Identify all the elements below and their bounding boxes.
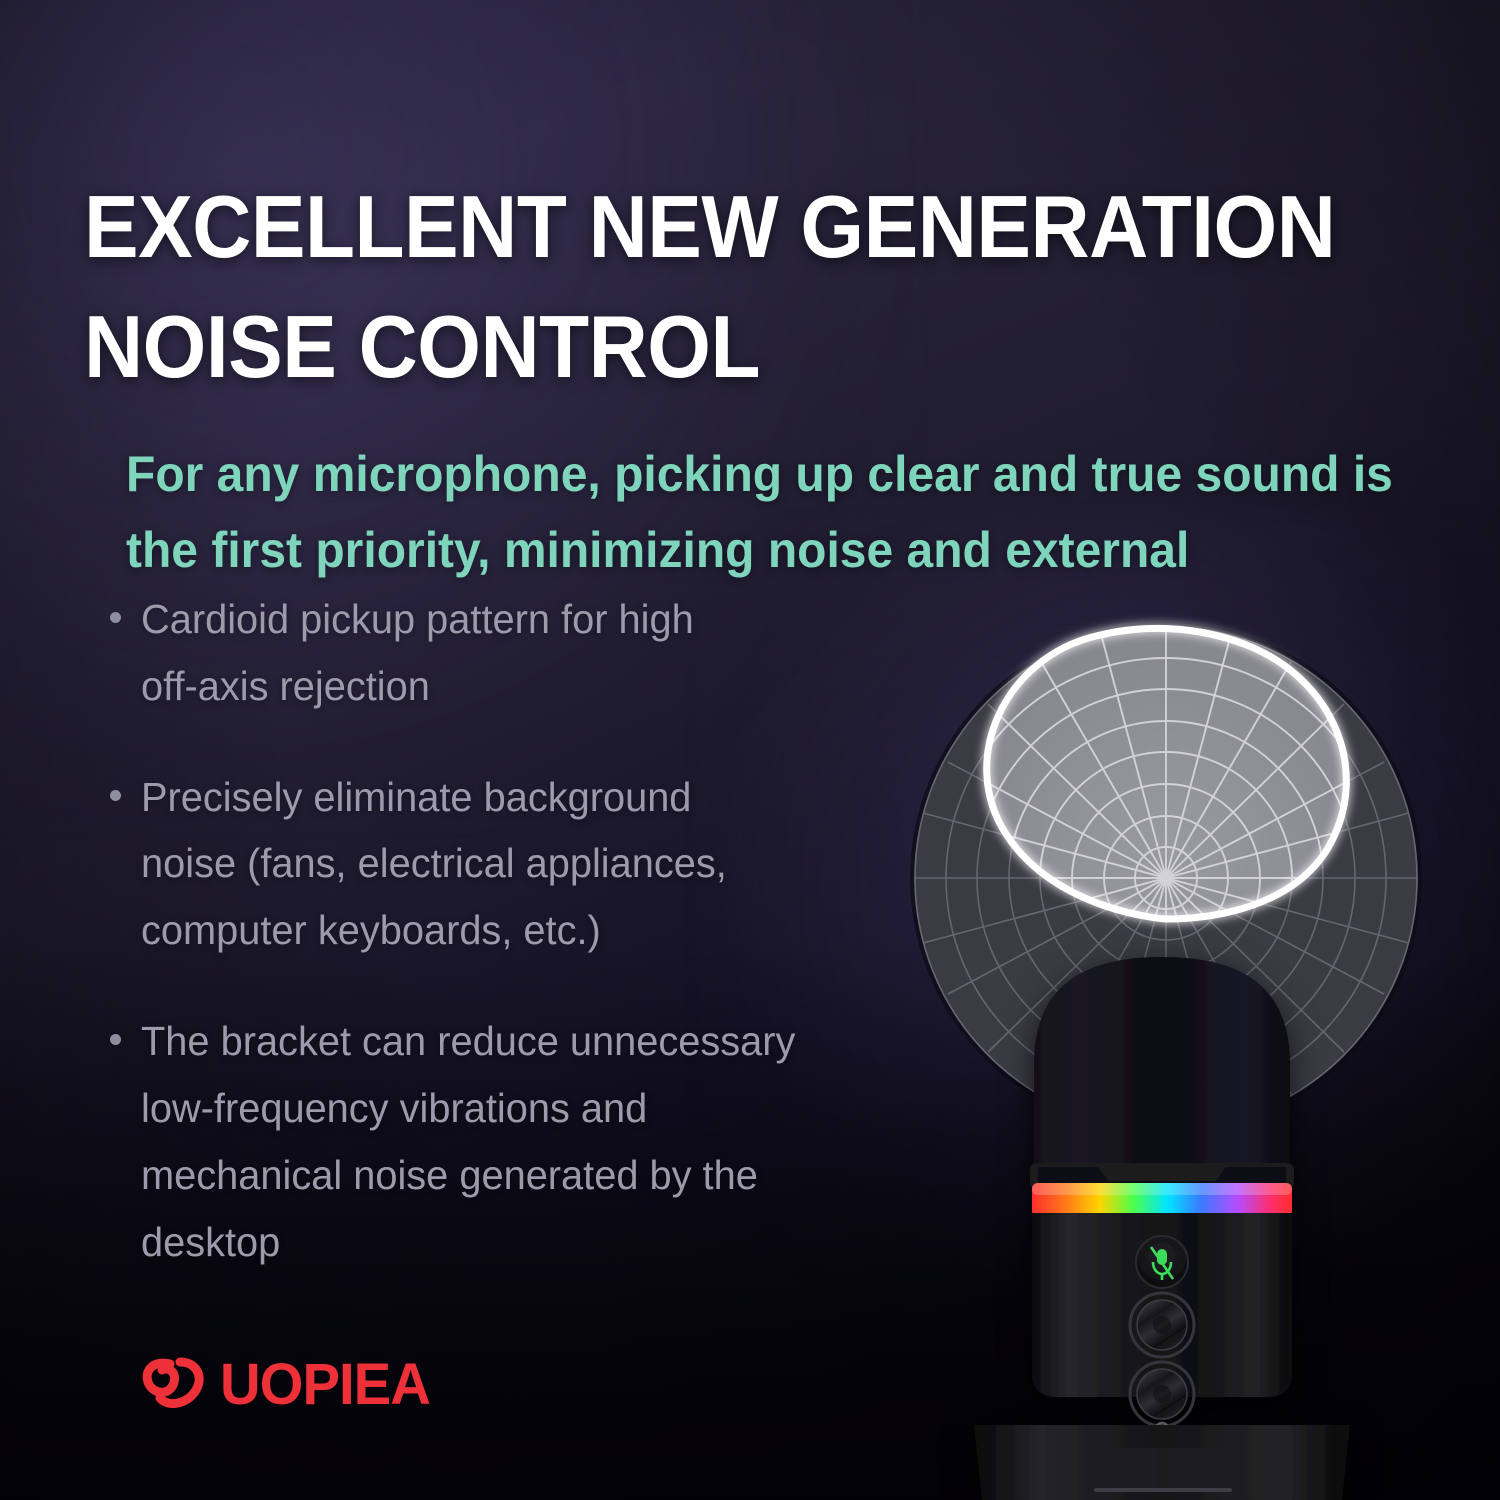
product-feature-banner: EXCELLENT NEW GENERATION NOISE CONTROL F… (0, 0, 1500, 1500)
bullet-dot-icon (110, 612, 121, 623)
list-item: The bracket can reduce unnecessary low-f… (110, 1008, 900, 1275)
bullet-2-line-1: Precisely eliminate background (141, 764, 727, 831)
bullet-2-line-2: noise (fans, electrical appliances, (141, 830, 727, 897)
subheadline-line-2: the first priority, minimizing noise and… (126, 512, 1326, 588)
headline-line-1: EXCELLENT NEW GENERATION (84, 167, 1330, 287)
brand-logo: UOPIEA (140, 1352, 436, 1418)
headline-line-2: NOISE CONTROL (84, 287, 1330, 407)
bullet-3-line-4: desktop (141, 1209, 795, 1276)
subheadline: For any microphone, picking up clear and… (126, 436, 1326, 588)
bullet-3-line-1: The bracket can reduce unnecessary (141, 1008, 795, 1075)
brand-name: UOPIEA (220, 1356, 430, 1414)
bullet-3-line-3: mechanical noise generated by the (141, 1142, 795, 1209)
bullet-2-line-3: computer keyboards, etc.) (141, 897, 727, 964)
list-item: Precisely eliminate background noise (fa… (110, 764, 900, 964)
content-layer: EXCELLENT NEW GENERATION NOISE CONTROL F… (0, 0, 1500, 1500)
feature-bullet-list: Cardioid pickup pattern for high off-axi… (110, 586, 900, 1319)
page-title: EXCELLENT NEW GENERATION NOISE CONTROL (84, 167, 1330, 406)
bullet-3-line-2: low-frequency vibrations and (141, 1075, 795, 1142)
list-item: Cardioid pickup pattern for high off-axi… (110, 586, 900, 720)
bullet-text: Cardioid pickup pattern for high off-axi… (141, 586, 694, 720)
uopiea-loop-mark (140, 1352, 214, 1418)
bullet-text: The bracket can reduce unnecessary low-f… (141, 1008, 795, 1275)
bullet-dot-icon (110, 1034, 121, 1045)
bullet-text: Precisely eliminate background noise (fa… (141, 764, 727, 964)
bullet-1-line-2: off-axis rejection (141, 653, 694, 720)
subheadline-line-1: For any microphone, picking up clear and… (126, 436, 1326, 512)
bullet-1-line-1: Cardioid pickup pattern for high (141, 586, 694, 653)
bullet-dot-icon (110, 790, 121, 801)
